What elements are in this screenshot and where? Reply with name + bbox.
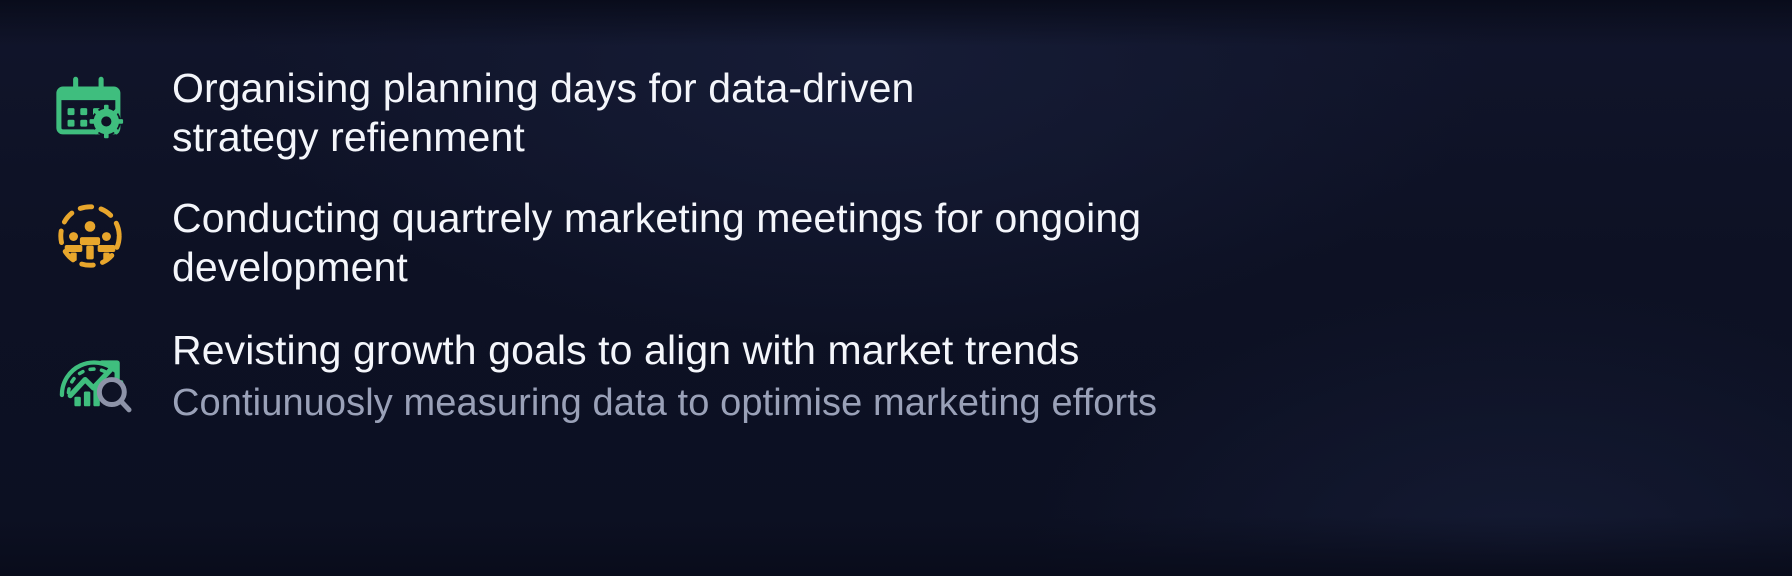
list-item-text-cell: Revisting growth goals to align with mar… — [172, 326, 1556, 427]
list-item-text-cell: Conducting quartrely marketing meetings … — [172, 194, 1556, 292]
list-item-icon-cell — [56, 194, 172, 270]
list-item-text-cell: Organising planning days for data-driven… — [172, 64, 1556, 162]
benefit-list: Organising planning days for data-driven… — [56, 64, 1556, 427]
growth-gauge-search-icon — [56, 338, 132, 414]
list-item-headline: Conducting quartrely marketing meetings … — [172, 194, 1292, 292]
list-item-headline: Revisting growth goals to align with mar… — [172, 326, 1556, 375]
list-item-icon-cell — [56, 326, 172, 414]
list-item: Revisting growth goals to align with mar… — [56, 326, 1556, 427]
list-item: Organising planning days for data-driven… — [56, 64, 1556, 162]
list-item-icon-cell — [56, 64, 172, 144]
list-item: Conducting quartrely marketing meetings … — [56, 194, 1556, 292]
group-meeting-icon — [56, 202, 124, 270]
slide-canvas: Organising planning days for data-driven… — [0, 0, 1792, 576]
list-item-headline: Organising planning days for data-driven… — [172, 64, 1072, 162]
calendar-gear-icon — [56, 70, 130, 144]
list-item-subline: Contiunuosly measuring data to optimise … — [172, 379, 1556, 427]
